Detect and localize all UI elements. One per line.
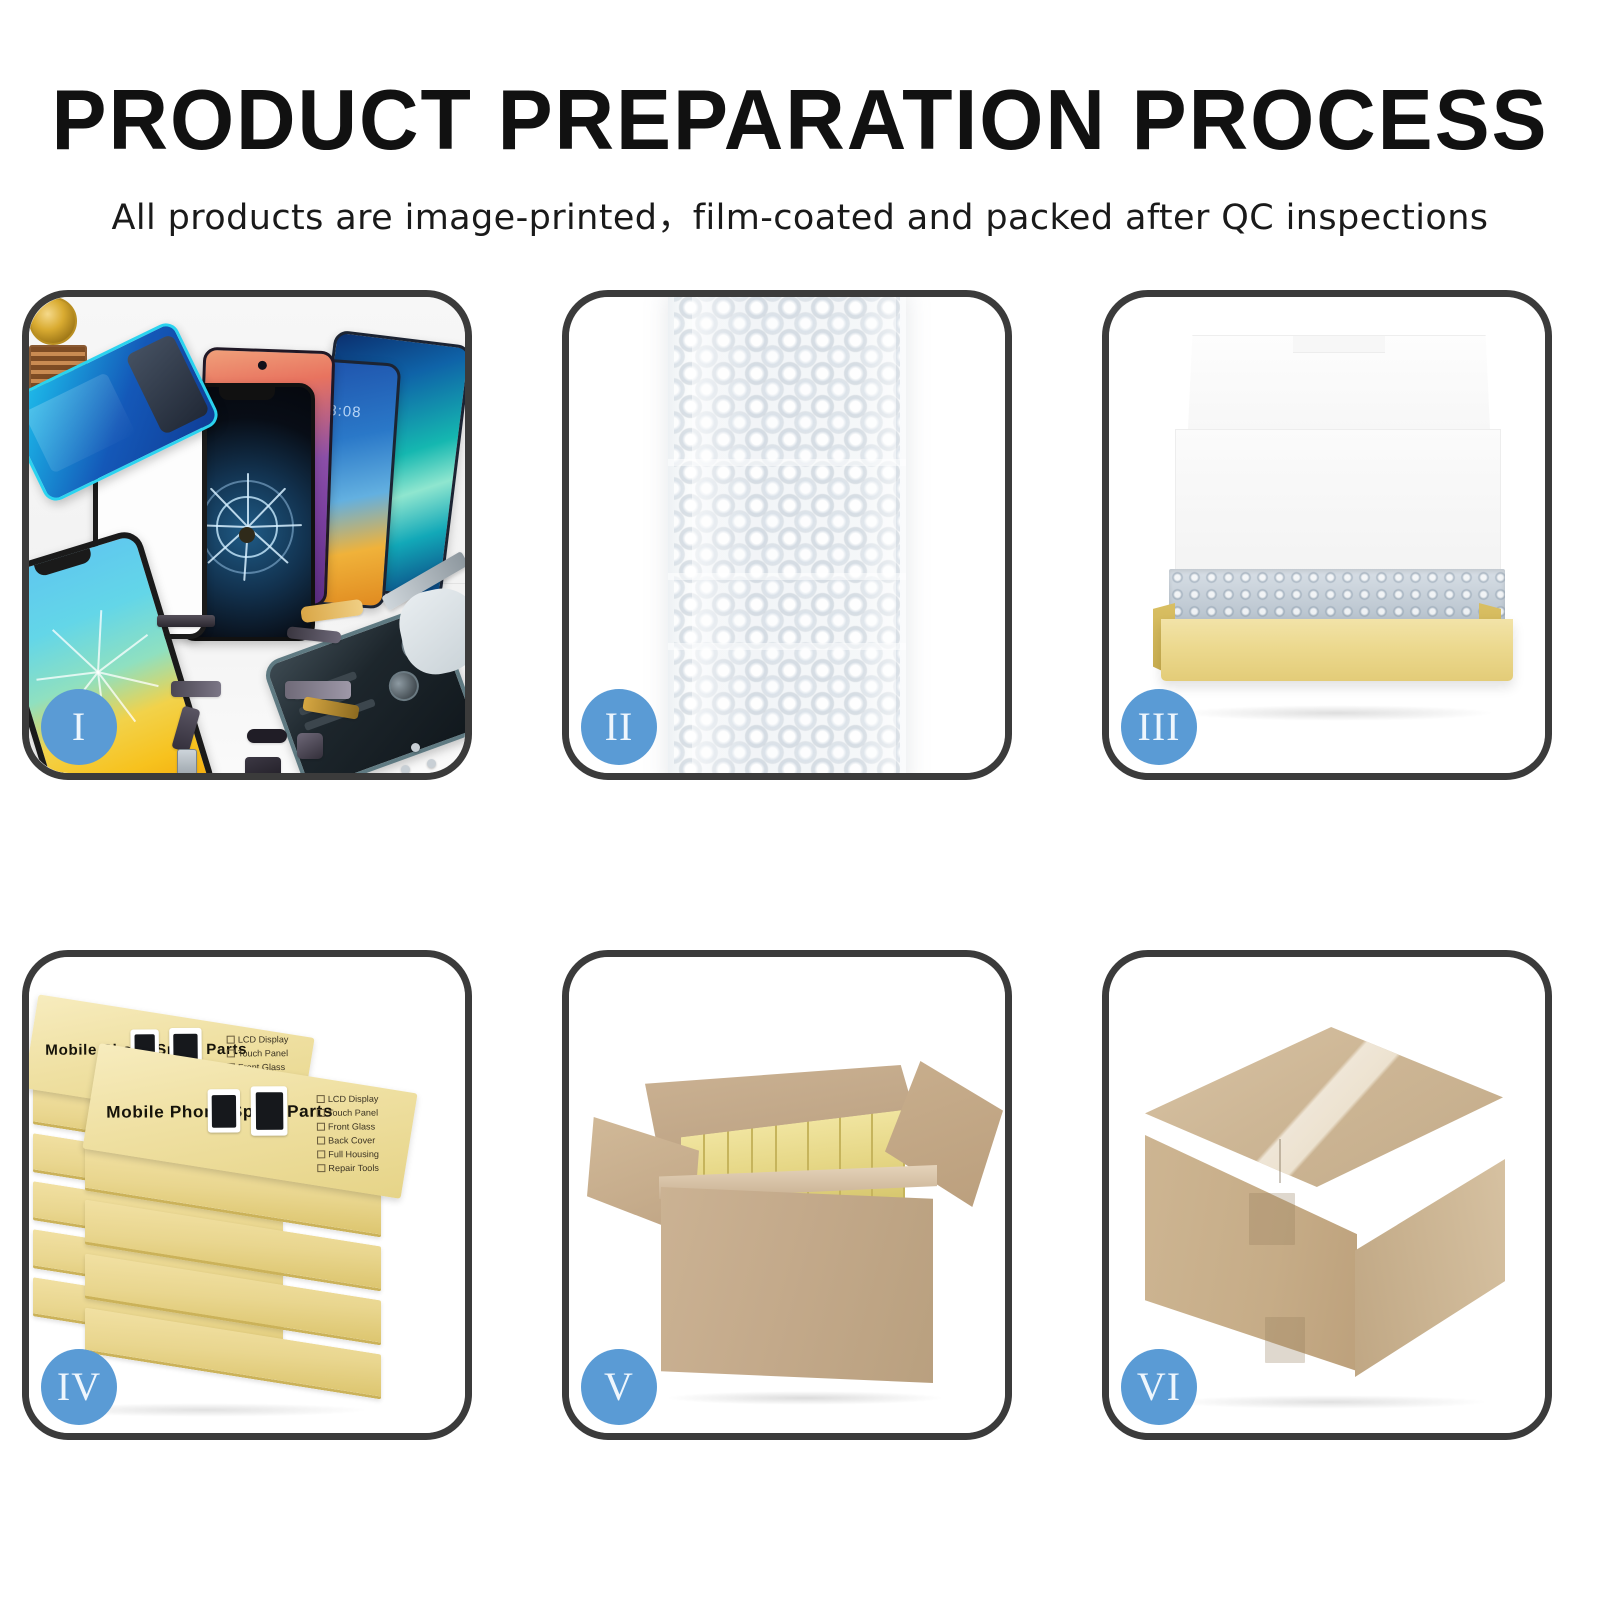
sim-tray-part — [177, 749, 197, 773]
drop-shadow — [1169, 1395, 1489, 1409]
highlight-left — [692, 297, 754, 773]
checklist-item: LCD Display — [227, 1033, 289, 1047]
camera-lens-icon — [385, 667, 423, 705]
step-frame: 08:08 — [22, 290, 472, 780]
checklist-item: Repair Tools — [317, 1162, 379, 1176]
page-subtitle: All products are image-printed，film-coat… — [0, 163, 1600, 240]
highlight-right — [858, 297, 896, 773]
drop-shadow — [665, 1391, 945, 1405]
process-step-4[interactable]: Mobile Phone Spare Parts LCD Display Tou… — [22, 950, 472, 1440]
checklist-item: Front Glass — [317, 1120, 379, 1134]
process-step-6[interactable]: VI — [1102, 950, 1552, 1440]
checklist-item: Full Housing — [317, 1148, 379, 1162]
front-camera-icon — [258, 361, 267, 370]
checklist-item: Touch Panel — [227, 1047, 289, 1061]
header: PRODUCT PREPARATION PROCESS All products… — [0, 0, 1600, 240]
camera-module-part — [297, 733, 323, 759]
screw-part — [401, 765, 410, 773]
box-checklist: LCD Display Touch Panel Front Glass Back… — [317, 1093, 380, 1176]
process-step-5[interactable]: V — [562, 950, 1012, 1440]
infographic-page: PRODUCT PREPARATION PROCESS All products… — [0, 0, 1600, 1600]
taptic-engine-part — [29, 297, 77, 345]
step-frame: II — [562, 290, 1012, 780]
screen-thumbnail — [251, 1086, 288, 1136]
wrap-seam — [668, 459, 906, 466]
step-frame: Mobile Phone Spare Parts LCD Display Tou… — [22, 950, 472, 1440]
step-badge: VI — [1121, 1349, 1197, 1425]
carton-right-face — [1355, 1159, 1505, 1377]
step-badge: III — [1121, 689, 1197, 765]
speaker-module-part — [245, 757, 281, 773]
drop-shadow — [1179, 705, 1495, 721]
screw-part — [411, 743, 420, 752]
carton-label-patch — [1249, 1193, 1295, 1245]
checklist-item: Touch Panel — [317, 1107, 379, 1121]
flex-cable-part — [287, 626, 342, 644]
process-step-2[interactable]: II — [562, 290, 1012, 780]
speaker-mesh-part — [157, 615, 215, 627]
step-badge: V — [581, 1349, 657, 1425]
checklist-item: Back Cover — [317, 1134, 379, 1148]
notch-icon — [33, 546, 93, 577]
lid-tab — [1293, 336, 1385, 353]
wrap-seam — [668, 643, 906, 650]
step-badge: I — [41, 689, 117, 765]
screen-thumbnail — [208, 1089, 241, 1133]
step-badge: IV — [41, 1349, 117, 1425]
flex-cable-part — [171, 681, 221, 697]
process-step-3[interactable]: III — [1102, 290, 1552, 780]
process-step-grid: 08:08 — [0, 290, 1600, 1590]
carton-body — [661, 1187, 933, 1383]
step-frame: VI — [1102, 950, 1552, 1440]
flex-cable-part — [285, 681, 351, 699]
step-frame: V — [562, 950, 1012, 1440]
checklist-item: LCD Display — [317, 1093, 379, 1107]
step-badge: II — [581, 689, 657, 765]
notch-icon — [219, 387, 275, 400]
page-title: PRODUCT PREPARATION PROCESS — [24, 0, 1576, 163]
carton-label-patch — [1265, 1317, 1305, 1363]
screw-part — [427, 759, 436, 768]
capacitor-part — [247, 729, 287, 743]
mailer-front-panel — [1161, 619, 1513, 681]
step-frame: III — [1102, 290, 1552, 780]
bubble-wrap-roll — [668, 297, 906, 773]
process-step-1[interactable]: 08:08 — [22, 290, 472, 780]
carton-seam — [1279, 1139, 1281, 1183]
wrap-seam — [668, 573, 906, 580]
